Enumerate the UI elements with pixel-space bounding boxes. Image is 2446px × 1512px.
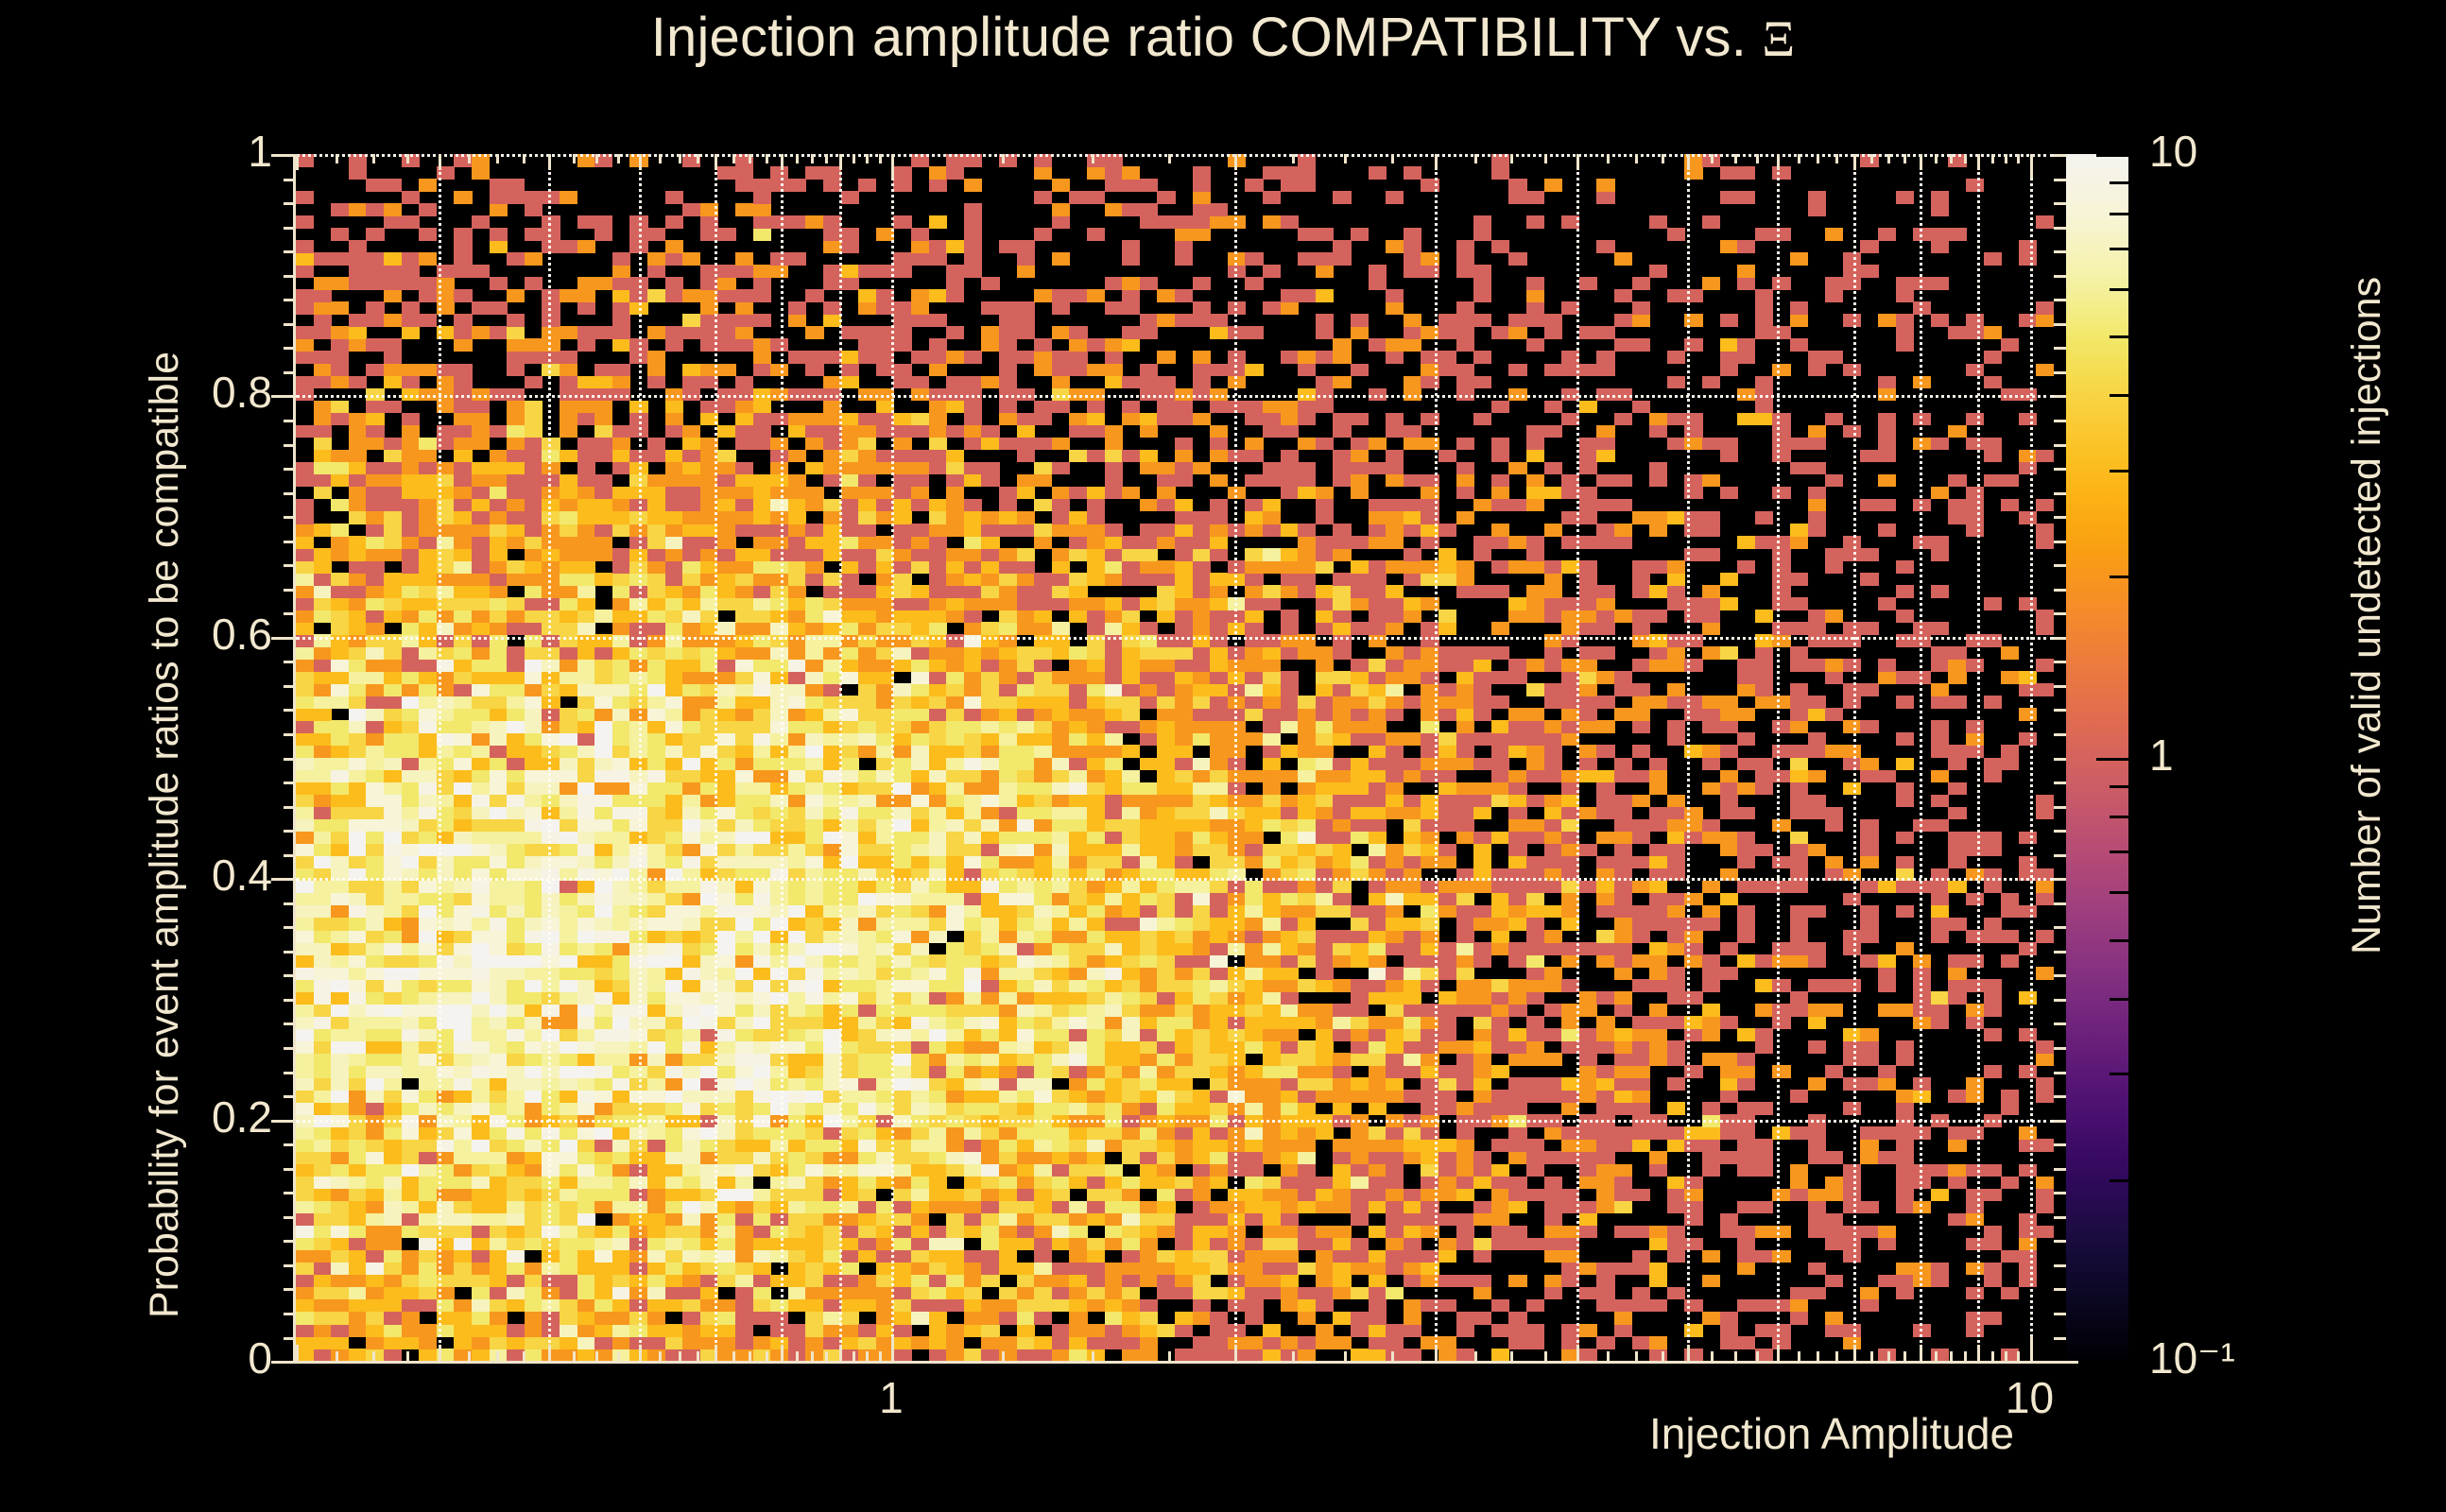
x-tick-minor [715, 1345, 717, 1361]
x-tick-top [825, 154, 828, 163]
x-tick-minor [781, 1345, 784, 1361]
colorbar-tick-minor [2110, 850, 2128, 853]
y-tick-minor [284, 854, 296, 857]
y-tick-minor [284, 974, 296, 977]
x-tick-top [679, 154, 681, 163]
colorbar-tick-minor [2110, 1179, 2128, 1182]
heatmap-cells [296, 154, 2054, 1361]
x-tick-minor [2005, 1351, 2007, 1361]
x-tick-minor [825, 1351, 828, 1361]
y-tick-minor [284, 420, 296, 422]
colorbar-tick-minor [2110, 470, 2128, 472]
x-tick-top [296, 154, 299, 170]
x-tick-minor [595, 1351, 598, 1361]
x-tick-top [1687, 154, 1690, 170]
y-tick-major [271, 1361, 296, 1364]
y-tick-minor [284, 541, 296, 543]
y-tick-minor [284, 951, 296, 954]
y-tick-minor [284, 179, 296, 181]
x-tick-top [439, 154, 441, 170]
x-tick-minor [1234, 1345, 1237, 1361]
x-tick-minor [468, 1351, 471, 1361]
y-tick-minor [284, 516, 296, 519]
x-tick-minor [1344, 1351, 1347, 1361]
colorbar-tick-major [2096, 154, 2128, 157]
colorbar-tick-major [2096, 758, 2128, 761]
x-tick-minor [1798, 1351, 1800, 1361]
y-tick-minor [284, 250, 296, 253]
x-tick-minor [548, 1345, 551, 1361]
colorbar-tick-minor [2110, 181, 2128, 184]
x-tick-minor [1168, 1351, 1171, 1361]
y-tick-right [2054, 468, 2066, 471]
y-tick-minor [284, 1047, 296, 1050]
y-tick-right [2054, 1192, 2066, 1194]
y-tick-minor [284, 1264, 296, 1267]
y-tick-right [2054, 179, 2066, 181]
colorbar-title: Number of valid undetected injections [2344, 277, 2390, 954]
x-tick-top [1887, 154, 1890, 163]
y-tick-right [2054, 347, 2066, 350]
y-tick-minor [284, 227, 296, 230]
x-tick-top [1002, 154, 1005, 163]
y-tick-major [271, 878, 296, 881]
colorbar-tick-minor [2110, 816, 2128, 818]
y-tick-major [271, 1120, 296, 1123]
y-tick-right [2054, 1288, 2066, 1291]
x-tick-top [336, 154, 338, 163]
x-tick-top [1435, 154, 1438, 170]
x-tick-top [548, 154, 551, 170]
x-tick-top [1798, 154, 1800, 163]
x-tick-minor [1474, 1351, 1477, 1361]
x-tick-minor [1870, 1351, 1873, 1361]
y-tick-right [2054, 1168, 2066, 1171]
x-tick-top [1977, 154, 1980, 170]
x-tick-top [659, 154, 662, 163]
y-tick-minor [284, 782, 296, 784]
x-tick-top [496, 154, 499, 163]
x-tick-top [697, 154, 699, 163]
x-tick-top [639, 154, 642, 170]
x-tick-top [1950, 154, 1953, 163]
y-tick-minor [284, 830, 296, 833]
y-tick-right [2054, 902, 2066, 905]
x-tick-top [468, 154, 471, 163]
x-tick-minor [732, 1351, 735, 1361]
x-tick-minor [1756, 1351, 1759, 1361]
y-tick-minor [284, 202, 296, 205]
x-tick-minor [2017, 1351, 2020, 1361]
y-tick-right [2054, 1337, 2066, 1340]
y-tick-minor [284, 468, 296, 471]
y-tick-right [2054, 516, 2066, 519]
x-tick-top [1576, 154, 1579, 170]
x-tick-top [1777, 154, 1780, 170]
chart-title-text: Injection amplitude ratio COMPATIBILITY … [651, 7, 1763, 68]
y-tick-right [2054, 227, 2066, 230]
x-tick-top [406, 154, 409, 163]
x-tick-minor [1662, 1351, 1664, 1361]
x-tick-top [1817, 154, 1819, 163]
y-tick-minor [284, 758, 296, 761]
y-tick-right [2054, 564, 2066, 567]
chart-title: Injection amplitude ratio COMPATIBILITY … [0, 6, 2446, 69]
y-tick-minor [284, 1240, 296, 1243]
x-tick-minor [766, 1351, 768, 1361]
x-tick-top [2030, 154, 2033, 179]
x-tick-top [2017, 154, 2020, 163]
y-tick-right [2054, 1022, 2066, 1025]
colorbar-tick-minor [2110, 335, 2128, 338]
y-tick-minor [284, 1168, 296, 1171]
y-tick-right [2054, 1072, 2066, 1074]
x-tick-top [1903, 154, 1906, 163]
y-tick-right [2054, 323, 2066, 326]
x-tick-top [1474, 154, 1477, 163]
y-tick-right [2054, 974, 2066, 977]
y-tick-right [2054, 685, 2066, 688]
x-tick-top [1756, 154, 1759, 163]
y-tick-minor [284, 685, 296, 688]
y-tick-right [2054, 275, 2066, 278]
y-tick-right [2054, 299, 2066, 301]
colorbar-tick-minor [2110, 998, 2128, 1001]
y-tick-right [2054, 661, 2066, 663]
y-tick-minor [284, 1095, 296, 1098]
x-tick-minor [1777, 1345, 1780, 1361]
y-tick-right [2054, 371, 2066, 374]
y-tick-minor [284, 1143, 296, 1146]
x-tick-minor [1292, 1351, 1295, 1361]
x-tick-top [781, 154, 784, 170]
x-tick-minor [1607, 1351, 1610, 1361]
x-tick-top [1391, 154, 1394, 163]
x-tick-top [749, 154, 751, 163]
x-tick-top [715, 154, 717, 170]
x-tick-label: 1 [835, 1372, 948, 1423]
colorbar-tick-label: 1 [2149, 730, 2174, 781]
y-tick-right [2054, 1143, 2066, 1146]
x-tick-minor [1920, 1345, 1922, 1361]
y-tick-minor [284, 733, 296, 736]
x-tick-minor [749, 1351, 751, 1361]
y-axis-title: Probability for event amplitude ratios t… [142, 352, 188, 1318]
y-tick-major [271, 637, 296, 640]
plot-area[interactable] [296, 154, 2054, 1361]
x-tick-minor [1903, 1351, 1906, 1361]
x-tick-top [1092, 154, 1094, 163]
colorbar-tick-label: 10 [2149, 126, 2197, 177]
y-tick-label: 0 [57, 1332, 272, 1383]
y-tick-minor [284, 589, 296, 592]
y-tick-right [2054, 541, 2066, 543]
x-tick-top [766, 154, 768, 163]
y-tick-right [2054, 202, 2066, 205]
y-tick-major [271, 154, 296, 157]
y-tick-right [2054, 709, 2066, 712]
x-tick-minor [866, 1351, 869, 1361]
x-tick-minor [406, 1351, 409, 1361]
x-tick-minor [1887, 1351, 1890, 1361]
x-tick-top [879, 154, 882, 163]
y-tick-right [2054, 926, 2066, 929]
x-tick-top [796, 154, 799, 163]
x-tick-minor [336, 1351, 338, 1361]
x-tick-top [1662, 154, 1664, 163]
x-tick-top [1935, 154, 1938, 163]
x-tick-minor [659, 1351, 662, 1361]
y-tick-major [271, 395, 296, 398]
y-tick-minor [284, 444, 296, 447]
xi-symbol: Ξ [1762, 10, 1795, 67]
x-tick-minor [1835, 1351, 1838, 1361]
x-tick-top [1870, 154, 1873, 163]
x-tick-minor [496, 1351, 499, 1361]
x-tick-minor [1853, 1345, 1856, 1361]
y-tick-minor [284, 299, 296, 301]
y-tick-minor [284, 275, 296, 278]
x-tick-top [1510, 154, 1513, 163]
y-tick-right [2054, 612, 2066, 615]
y-tick-right [2054, 1240, 2066, 1243]
y-tick-right [2054, 1095, 2066, 1098]
y-tick-minor [284, 1313, 296, 1315]
colorbar-tick-major [2096, 1361, 2128, 1364]
x-tick-minor [639, 1345, 642, 1361]
y-tick-minor [284, 709, 296, 712]
x-tick-minor [1950, 1351, 1953, 1361]
x-axis-title: Injection Amplitude [1649, 1408, 2014, 1459]
axis-line-bottom [296, 1361, 2057, 1364]
y-tick-minor [284, 661, 296, 663]
x-tick-top [866, 154, 869, 163]
x-tick-minor [1817, 1351, 1819, 1361]
x-tick-top [1292, 154, 1295, 163]
y-tick-minor [284, 492, 296, 495]
y-tick-right [2054, 999, 2066, 1002]
y-tick-right [2054, 1361, 2078, 1364]
x-tick-minor [1435, 1345, 1438, 1361]
y-tick-minor [284, 323, 296, 326]
y-tick-right [2054, 444, 2066, 447]
x-tick-top [617, 154, 620, 163]
y-tick-minor [284, 347, 296, 350]
x-tick-top [811, 154, 814, 163]
y-tick-minor [284, 1216, 296, 1219]
x-tick-top [1635, 154, 1638, 163]
x-tick-top [839, 154, 842, 170]
y-tick-right [2054, 854, 2066, 857]
x-tick-minor [1576, 1345, 1579, 1361]
x-tick-minor [1711, 1351, 1714, 1361]
y-tick-right [2054, 806, 2066, 809]
x-tick-minor [617, 1351, 620, 1361]
x-tick-minor [296, 1345, 299, 1361]
x-tick-top [2005, 154, 2007, 163]
y-tick-right [2054, 1047, 2066, 1050]
y-tick-right [2054, 250, 2066, 253]
y-tick-right [2054, 492, 2066, 495]
colorbar-tick-minor [2110, 288, 2128, 291]
y-tick-right [2054, 1264, 2066, 1267]
x-tick-minor [679, 1351, 681, 1361]
y-tick-minor [284, 564, 296, 567]
x-tick-major [2030, 1336, 2033, 1361]
x-tick-top [523, 154, 525, 163]
x-tick-top [1853, 154, 1856, 170]
x-tick-minor [1964, 1351, 1967, 1361]
chart-root: Injection amplitude ratio COMPATIBILITY … [0, 0, 2446, 1512]
x-tick-top [1991, 154, 1994, 163]
colorbar-tick-minor [2110, 213, 2128, 215]
colorbar-tick-minor [2110, 939, 2128, 942]
y-tick-right [2054, 1313, 2066, 1315]
x-tick-minor [839, 1345, 842, 1361]
x-tick-top [891, 154, 894, 179]
x-tick-top [372, 154, 375, 163]
x-tick-top [1168, 154, 1171, 163]
x-tick-minor [523, 1351, 525, 1361]
x-tick-minor [573, 1351, 576, 1361]
x-tick-top [1734, 154, 1737, 163]
x-tick-top [732, 154, 735, 163]
y-tick-right [2054, 758, 2066, 761]
colorbar-tick-label: 10⁻¹ [2149, 1332, 2235, 1383]
x-tick-minor [1635, 1351, 1638, 1361]
x-tick-top [595, 154, 598, 163]
x-tick-top [1544, 154, 1547, 163]
x-tick-top [853, 154, 855, 163]
y-tick-right [2054, 733, 2066, 736]
x-tick-minor [1935, 1351, 1938, 1361]
y-tick-minor [284, 612, 296, 615]
y-tick-minor [284, 1192, 296, 1194]
y-tick-label: 1 [57, 126, 272, 177]
x-tick-minor [1734, 1351, 1737, 1361]
colorbar-tick-minor [2110, 891, 2128, 894]
y-tick-right [2054, 951, 2066, 954]
x-tick-top [1964, 154, 1967, 163]
y-tick-right [2054, 782, 2066, 784]
x-tick-minor [811, 1351, 814, 1361]
y-tick-right [2054, 420, 2066, 422]
x-tick-minor [796, 1351, 799, 1361]
colorbar-tick-minor [2110, 785, 2128, 788]
y-tick-minor [284, 926, 296, 929]
x-tick-major [891, 1336, 894, 1361]
colorbar-tick-minor [2110, 1073, 2128, 1075]
y-tick-minor [284, 902, 296, 905]
x-tick-minor [1002, 1351, 1005, 1361]
x-tick-top [1344, 154, 1347, 163]
x-tick-minor [1092, 1351, 1094, 1361]
x-tick-minor [1991, 1351, 1994, 1361]
x-tick-top [1835, 154, 1838, 163]
x-tick-minor [853, 1351, 855, 1361]
x-tick-top [1234, 154, 1237, 170]
x-tick-top [1920, 154, 1922, 170]
x-tick-minor [1687, 1345, 1690, 1361]
x-tick-minor [439, 1345, 441, 1361]
y-tick-right [2054, 1216, 2066, 1219]
x-tick-minor [372, 1351, 375, 1361]
x-tick-minor [1510, 1351, 1513, 1361]
x-tick-minor [697, 1351, 699, 1361]
y-tick-minor [284, 1072, 296, 1074]
x-tick-top [1711, 154, 1714, 163]
y-tick-right [2054, 589, 2066, 592]
colorbar-tick-minor [2110, 248, 2128, 250]
x-tick-top [573, 154, 576, 163]
x-tick-minor [1544, 1351, 1547, 1361]
y-tick-minor [284, 806, 296, 809]
x-tick-minor [879, 1351, 882, 1361]
y-tick-minor [284, 371, 296, 374]
y-tick-minor [284, 1022, 296, 1025]
y-tick-minor [284, 999, 296, 1002]
colorbar-tick-minor [2110, 576, 2128, 578]
y-tick-right [2054, 830, 2066, 833]
x-tick-minor [1977, 1345, 1980, 1361]
x-tick-top [1607, 154, 1610, 163]
colorbar-tick-minor [2110, 394, 2128, 397]
y-tick-minor [284, 1288, 296, 1291]
y-tick-minor [284, 1337, 296, 1340]
x-tick-minor [1391, 1351, 1394, 1361]
